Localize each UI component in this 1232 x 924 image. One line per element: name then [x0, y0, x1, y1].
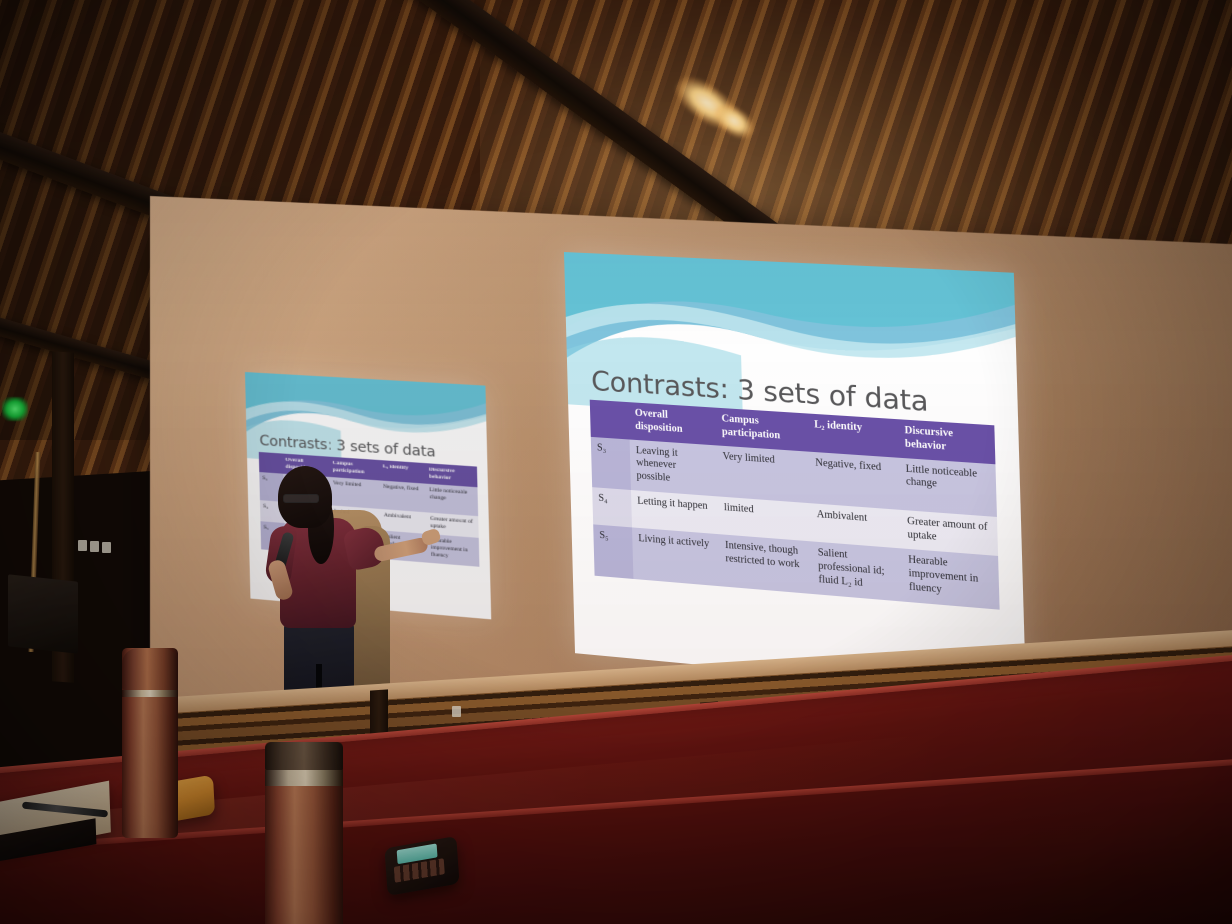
slide-table-body: S₃ Leaving it whenever possible Very lim…: [591, 436, 1000, 609]
cell-overall-disposition: Leaving it whenever possible: [630, 439, 718, 496]
lecture-hall-scene: Contrasts: 3 sets of data Overall dispos…: [0, 0, 1232, 924]
thermos-flask: [122, 648, 178, 838]
glasses-icon: [283, 494, 319, 503]
slide-table: Overall disposition Campus participation…: [590, 400, 1000, 609]
cell-discursive-behavior: Little noticeable change: [899, 457, 997, 516]
exit-sign-icon: [2, 397, 28, 421]
wall-outlet: [90, 541, 99, 552]
wall-outlet: [102, 542, 111, 553]
row-id: S₄: [592, 487, 632, 528]
av-equipment-box: [8, 574, 78, 653]
row-id: S₅: [593, 525, 633, 579]
column-header-id: [590, 400, 630, 439]
cell-l2-identity: Negative, fixed: [809, 451, 901, 509]
cell-discursive-behavior: Hearable improvement in fluency: [902, 549, 1000, 609]
column-header-overall-disposition: Overall disposition: [629, 402, 717, 445]
column-header-l2-identity: L₂ identity: [808, 413, 899, 457]
column-header-campus-participation: Campus participation: [715, 408, 808, 451]
flask-cap: [265, 742, 343, 770]
cell-l2-identity: Salient professional id; fluid L₂ id: [811, 542, 903, 601]
cell-discursive-behavior: Little noticeable change: [426, 484, 478, 516]
column-header-discursive-behavior: Discursive behavior: [898, 419, 996, 464]
wall-outlet: [452, 706, 461, 717]
cell-campus-participation: Very limited: [716, 445, 810, 503]
row-id: S₃: [591, 436, 631, 489]
projected-slide-main: Contrasts: 3 sets of data Overall dispos…: [564, 252, 1026, 695]
flask-cap: [122, 648, 178, 690]
cell-campus-participation: Intensive, though restricted to work: [719, 534, 813, 593]
cell-overall-disposition: Living it actively: [632, 528, 720, 586]
thermos-flask: [265, 742, 343, 924]
wall-outlet: [78, 540, 87, 551]
flask-ring: [122, 690, 178, 697]
flask-ring: [265, 770, 343, 786]
